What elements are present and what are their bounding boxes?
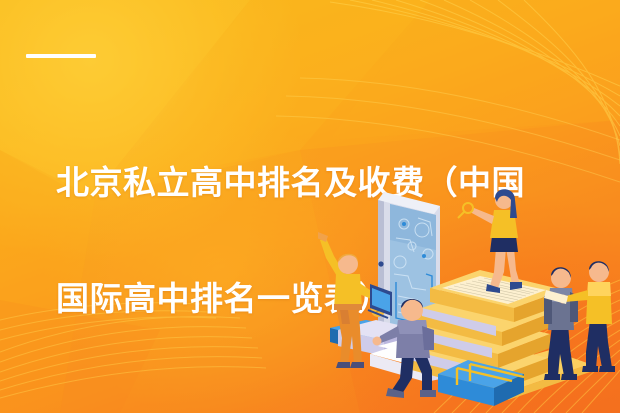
education-illustration <box>318 178 620 413</box>
banner-image: 北京私立高中排名及收费（中国 国际高中排名一览表） <box>0 0 620 413</box>
accent-rule <box>26 54 96 58</box>
